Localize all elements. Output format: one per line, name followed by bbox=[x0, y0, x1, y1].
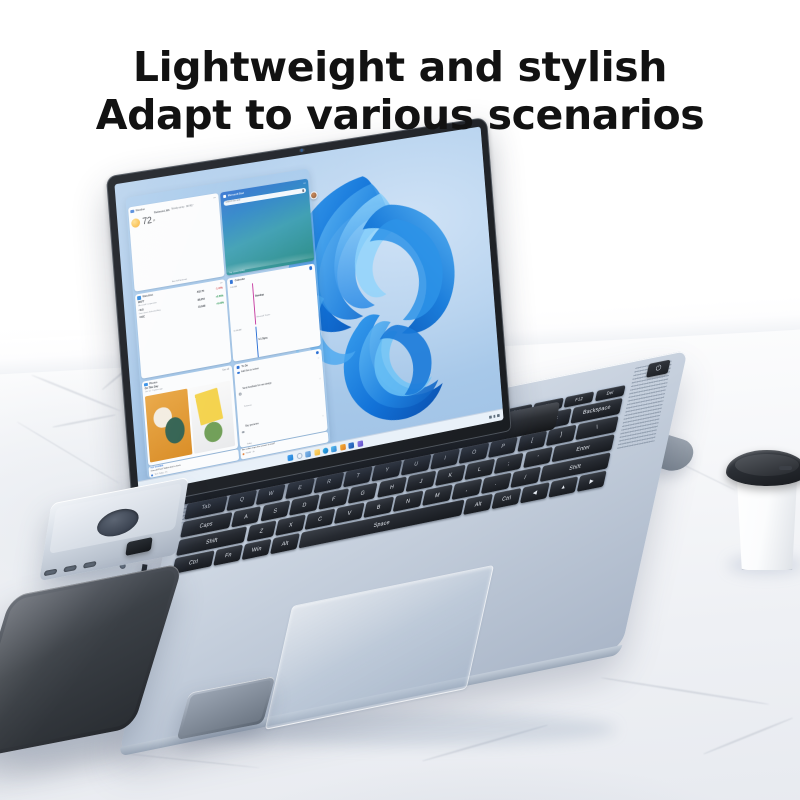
stocks-widget[interactable]: Watchlist ••• MSFT 402.75 -1.47% Microso… bbox=[135, 279, 231, 379]
search-placeholder: Search the web bbox=[225, 200, 240, 204]
search-icon[interactable] bbox=[302, 189, 305, 192]
usb-c-port bbox=[83, 561, 97, 569]
photo-thumbnail[interactable] bbox=[189, 380, 236, 454]
search-footer: Top stories today bbox=[229, 270, 245, 275]
search-icon[interactable] bbox=[296, 452, 302, 459]
star-icon[interactable]: ☆ bbox=[319, 377, 321, 380]
todo-text: Buy groceries bbox=[245, 423, 258, 428]
widgets-grid: Weather ••• Redmond, WA Mostly sunny 80°… bbox=[128, 179, 328, 466]
office-icon[interactable] bbox=[340, 443, 346, 450]
sun-icon bbox=[131, 218, 140, 228]
edge-icon[interactable] bbox=[323, 447, 329, 454]
calendar-title: Calendar bbox=[235, 278, 245, 283]
avatar[interactable] bbox=[309, 266, 313, 270]
weather-icon bbox=[131, 209, 135, 213]
photo-thumbnail[interactable] bbox=[145, 388, 192, 463]
key-arrow-up[interactable]: ▲ bbox=[548, 477, 578, 498]
marketing-headline: Lightweight and stylish Adapt to various… bbox=[0, 44, 800, 139]
widgets-icon[interactable] bbox=[305, 450, 311, 457]
event-time: 11:00 AM bbox=[234, 327, 254, 333]
key-alt-left[interactable]: Alt bbox=[270, 533, 300, 554]
headline-line-1: Lightweight and stylish bbox=[133, 43, 667, 91]
event-location: Microsoft Teams bbox=[257, 314, 271, 318]
news-source-icon bbox=[151, 474, 153, 477]
weather-widget[interactable]: Weather ••• Redmond, WA Mostly sunny 80°… bbox=[128, 193, 224, 292]
event-time: 9:00 AM bbox=[230, 284, 250, 290]
event-title: Standup bbox=[255, 293, 264, 298]
todo-checkbox[interactable] bbox=[237, 371, 240, 374]
microsoft-start-icon bbox=[223, 194, 226, 198]
volume-icon[interactable] bbox=[493, 415, 495, 418]
todo-widget[interactable]: To Do Add files to review ☆ bbox=[234, 348, 328, 447]
todo-due: Tomorrow bbox=[244, 404, 252, 407]
store-icon[interactable] bbox=[331, 445, 337, 452]
calendar-widget[interactable]: Calendar October 9:00 AM Standup Microso… bbox=[227, 263, 321, 361]
product-scene: Lightweight and stylish Adapt to various… bbox=[0, 0, 800, 800]
system-tray[interactable] bbox=[489, 414, 500, 419]
todo-text: Send feedback for new design bbox=[242, 382, 271, 389]
key-arrow-left[interactable]: ◀ bbox=[520, 483, 550, 504]
key-fn[interactable]: Fn bbox=[213, 545, 243, 566]
widgets-panel[interactable]: 11:11 AM Weather ••• Redmond, WA Mo bbox=[125, 169, 330, 479]
search-title: Microsoft Start bbox=[228, 192, 245, 198]
search-widget[interactable]: Microsoft Start ••• Search the web Top s… bbox=[220, 179, 314, 276]
star-icon[interactable]: ☆ bbox=[317, 356, 319, 359]
calendar-icon bbox=[230, 280, 233, 284]
outlook-icon[interactable] bbox=[348, 442, 354, 449]
watchlist-icon bbox=[138, 296, 142, 300]
user-avatar[interactable] bbox=[310, 190, 318, 199]
avatar[interactable] bbox=[316, 351, 320, 355]
usb-c-port bbox=[44, 569, 58, 577]
file-explorer-icon[interactable] bbox=[314, 449, 320, 456]
todo-title: To Do bbox=[241, 364, 248, 368]
key-windows[interactable]: Win bbox=[242, 539, 272, 560]
weather-unit: F bbox=[153, 218, 155, 222]
weather-more-button[interactable]: ••• bbox=[213, 196, 216, 199]
weather-temperature: 72 bbox=[142, 216, 152, 226]
weather-high-low: 80°/61° bbox=[186, 205, 193, 209]
todo-due: Today bbox=[247, 442, 252, 445]
wireless-charging-coil-icon bbox=[95, 506, 140, 540]
photos-widget[interactable]: Photos See all On This Day Oct 12 · 3 ye… bbox=[142, 365, 238, 466]
photos-thumbnails[interactable] bbox=[145, 380, 235, 463]
todo-checkbox[interactable] bbox=[238, 393, 241, 396]
key-alt-right[interactable]: Alt bbox=[463, 494, 493, 515]
todo-checkbox[interactable] bbox=[241, 430, 244, 433]
laptop-display: 11:11 AM Weather ••• Redmond, WA Mo bbox=[114, 127, 503, 494]
usb-c-port bbox=[63, 565, 77, 573]
key-ctrl-right[interactable]: Ctrl bbox=[492, 488, 522, 509]
news-source: Health · 4h bbox=[246, 451, 255, 455]
headline-line-2: Adapt to various scenarios bbox=[0, 92, 800, 140]
stocks-more-button[interactable]: ••• bbox=[220, 282, 223, 285]
windows-start-icon[interactable] bbox=[288, 454, 294, 461]
star-icon[interactable]: ☆ bbox=[322, 415, 324, 418]
news-source-icon bbox=[242, 453, 244, 456]
event-title: 1:1 Sync bbox=[258, 336, 267, 341]
todo-icon bbox=[236, 366, 239, 370]
key-arrow-right[interactable]: ▶ bbox=[577, 471, 607, 492]
weather-title: Weather bbox=[136, 208, 146, 213]
network-icon[interactable] bbox=[489, 416, 491, 419]
search-more-button[interactable]: ••• bbox=[303, 182, 306, 185]
stock-value: 15,628 bbox=[198, 305, 206, 309]
battery-icon[interactable] bbox=[497, 414, 499, 417]
teams-icon[interactable] bbox=[357, 440, 363, 447]
trackpad[interactable] bbox=[265, 565, 494, 730]
